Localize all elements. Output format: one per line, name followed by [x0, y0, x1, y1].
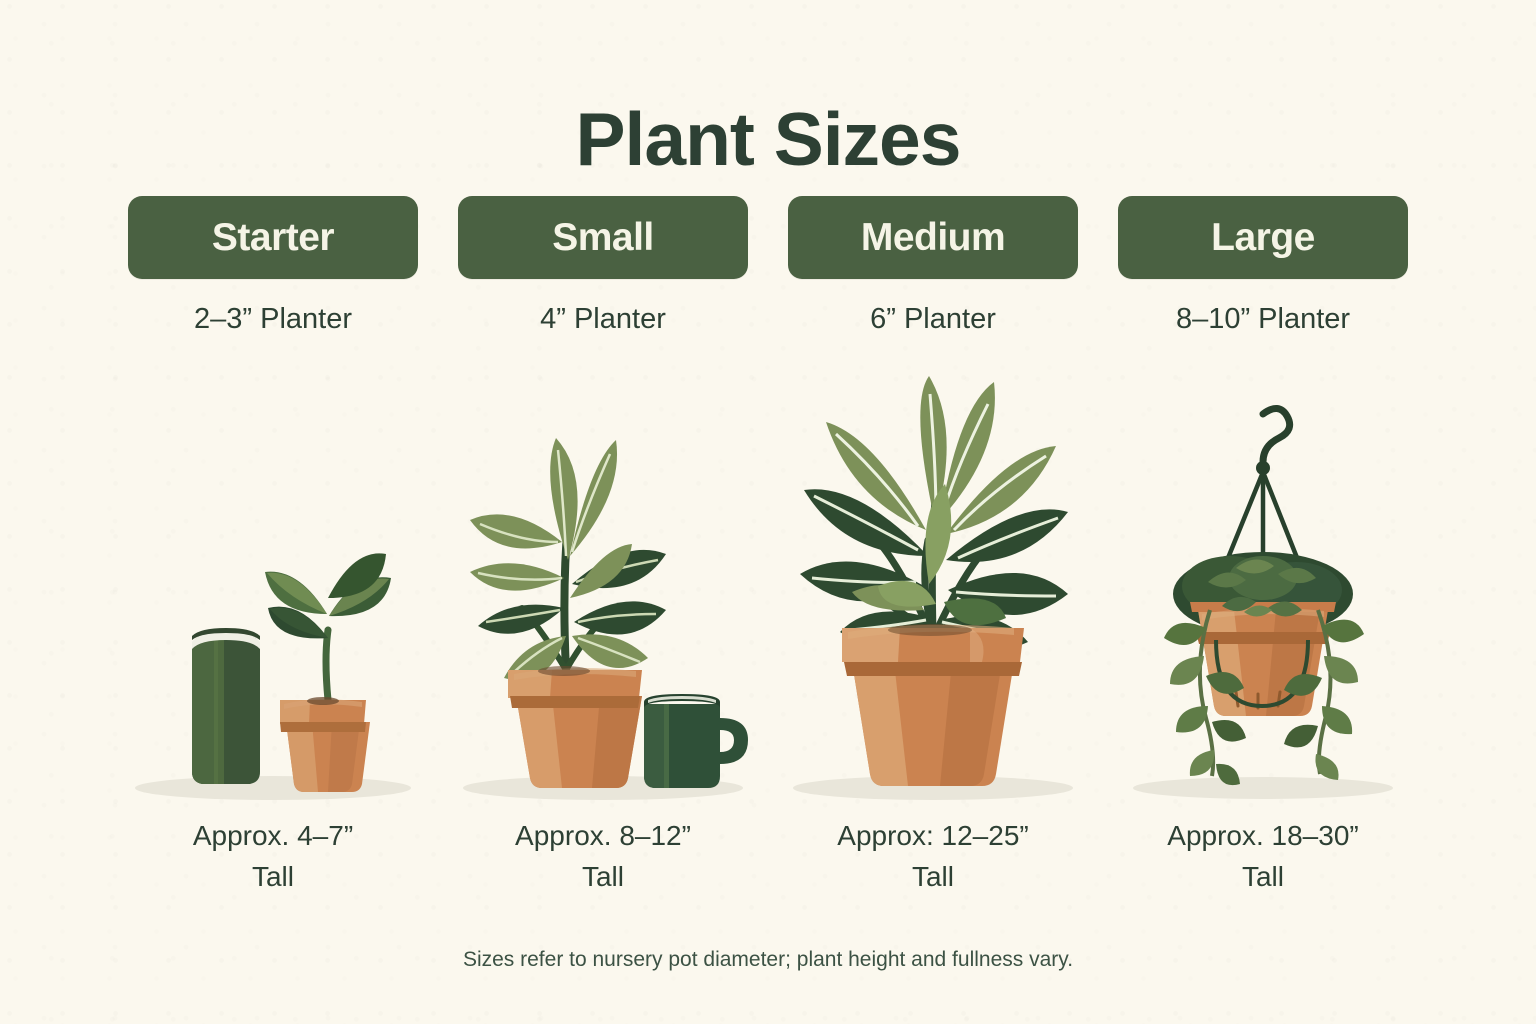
- badge-medium-label: Medium: [861, 218, 1005, 257]
- size-column-large: Large 8–10” Planter: [1118, 196, 1408, 334]
- terracotta-pot-icon: [508, 666, 642, 788]
- size-column-small: Small 4” Planter: [458, 196, 748, 334]
- badge-starter[interactable]: Starter: [128, 196, 418, 279]
- height-line-1: Approx. 4–7”: [128, 816, 418, 857]
- leaf: [1284, 725, 1318, 748]
- size-column-medium: Medium 6” Planter: [788, 196, 1078, 334]
- planter-size-large: 8–10” Planter: [1118, 305, 1408, 334]
- height-caption-large: Approx. 18–30” Tall: [1118, 816, 1408, 897]
- badge-starter-label: Starter: [212, 218, 334, 257]
- height-line-1: Approx. 18–30”: [1118, 816, 1408, 857]
- illustration-row: [128, 370, 1408, 800]
- size-column-starter: Starter 2–3” Planter: [128, 196, 418, 334]
- ground-shadow-icon: [135, 776, 411, 800]
- page-title: Plant Sizes: [0, 102, 1536, 177]
- height-line-1: Approx: 12–25”: [788, 816, 1078, 857]
- badge-small[interactable]: Small: [458, 196, 748, 279]
- illustration-small: [458, 370, 748, 800]
- leaf: [1315, 754, 1338, 780]
- leaf: [478, 605, 564, 634]
- soda-can-icon: [192, 628, 260, 784]
- illustration-medium: [788, 370, 1078, 800]
- illustration-large: [1118, 370, 1408, 800]
- planter-size-starter: 2–3” Planter: [128, 305, 418, 334]
- leaf: [1322, 706, 1352, 734]
- footer-note: Sizes refer to nursery pot diameter; pla…: [0, 948, 1536, 972]
- planter-size-small: 4” Planter: [458, 305, 748, 334]
- leaf: [470, 514, 562, 548]
- leafy-plant-icon: [470, 438, 666, 680]
- size-badge-row: Starter 2–3” Planter Small 4” Planter Me…: [128, 196, 1408, 334]
- hanging-hook-icon: [1263, 408, 1290, 462]
- bushy-plant-icon: [800, 376, 1068, 650]
- height-line-2: Tall: [788, 857, 1078, 898]
- seedling-pot-icon: [265, 553, 391, 792]
- leaf: [470, 563, 564, 590]
- leaf: [1190, 750, 1214, 776]
- ground-shadow-icon: [1133, 777, 1393, 799]
- leaf: [1212, 720, 1246, 742]
- height-caption-row: Approx. 4–7” Tall Approx. 8–12” Tall App…: [128, 816, 1408, 897]
- badge-small-label: Small: [552, 218, 654, 257]
- height-line-2: Tall: [458, 857, 748, 898]
- height-line-2: Tall: [128, 857, 418, 898]
- leaf: [925, 484, 951, 584]
- height-line-1: Approx. 8–12”: [458, 816, 748, 857]
- height-caption-medium: Approx: 12–25” Tall: [788, 816, 1078, 897]
- badge-medium[interactable]: Medium: [788, 196, 1078, 279]
- height-line-2: Tall: [1118, 857, 1408, 898]
- hanging-pot-icon: [1190, 602, 1336, 716]
- badge-large-label: Large: [1211, 218, 1315, 257]
- terracotta-pot-large-icon: [842, 624, 1024, 786]
- mug-icon: [644, 694, 748, 788]
- illustration-starter: [128, 370, 418, 800]
- badge-large[interactable]: Large: [1118, 196, 1408, 279]
- planter-size-medium: 6” Planter: [788, 305, 1078, 334]
- height-caption-small: Approx. 8–12” Tall: [458, 816, 748, 897]
- leaf: [1176, 706, 1208, 732]
- leaf: [574, 601, 666, 634]
- height-caption-starter: Approx. 4–7” Tall: [128, 816, 418, 897]
